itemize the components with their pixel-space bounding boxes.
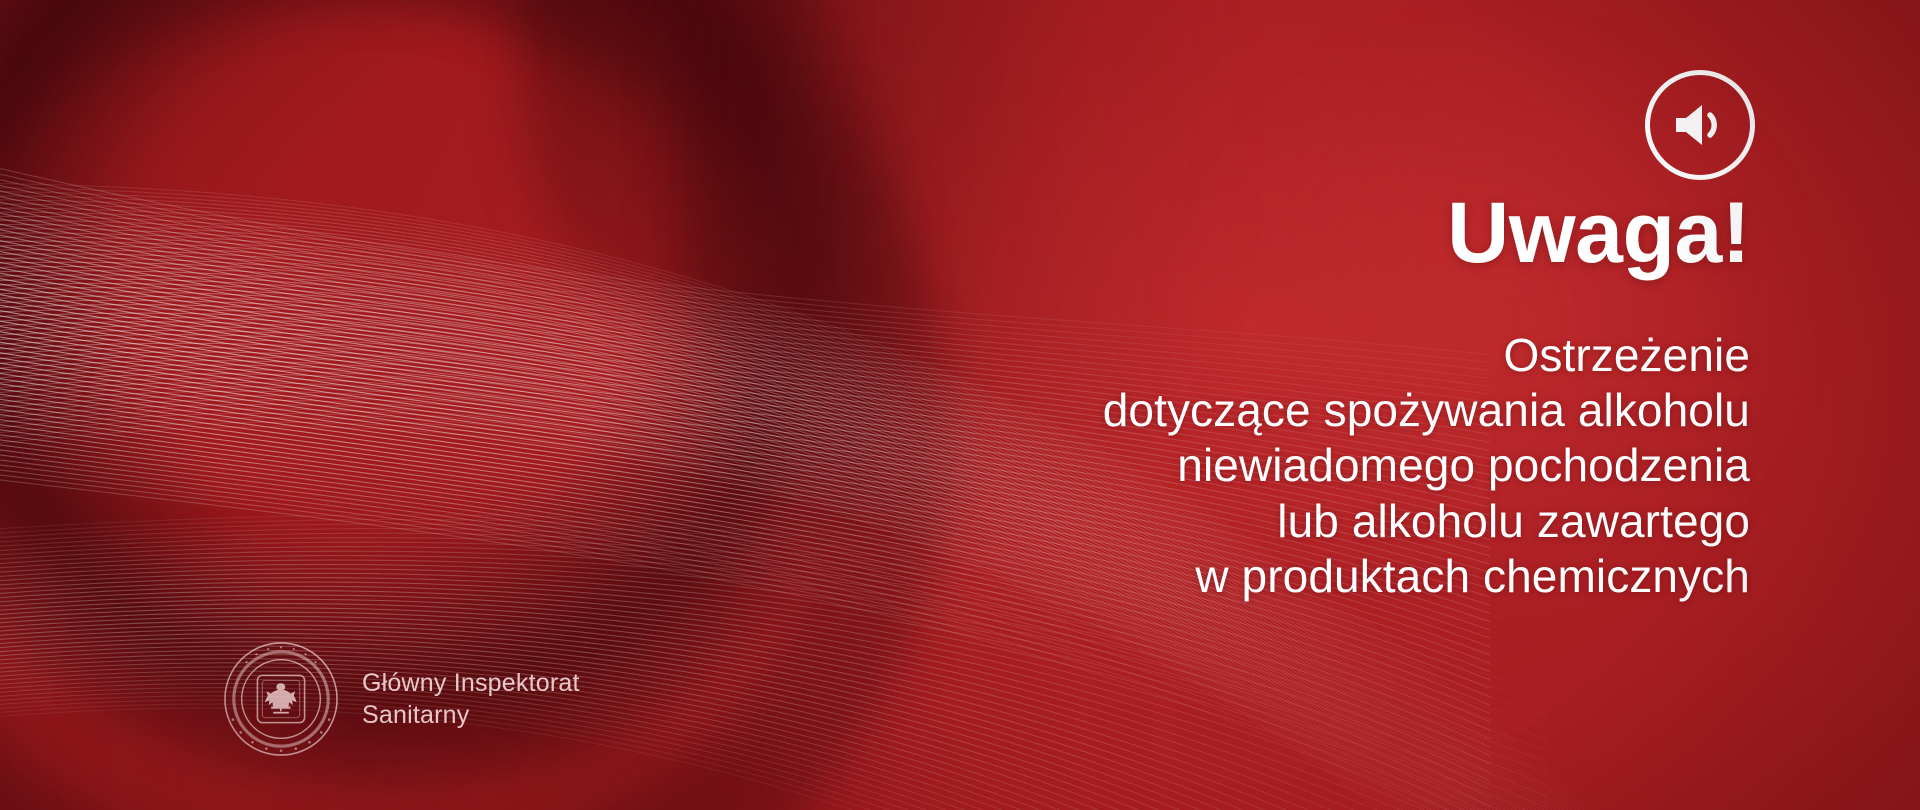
alcohol-warning-banner: Uwaga! Ostrzeżenie dotyczące spożywania … bbox=[0, 0, 1920, 810]
background-vignette bbox=[0, 0, 1920, 810]
